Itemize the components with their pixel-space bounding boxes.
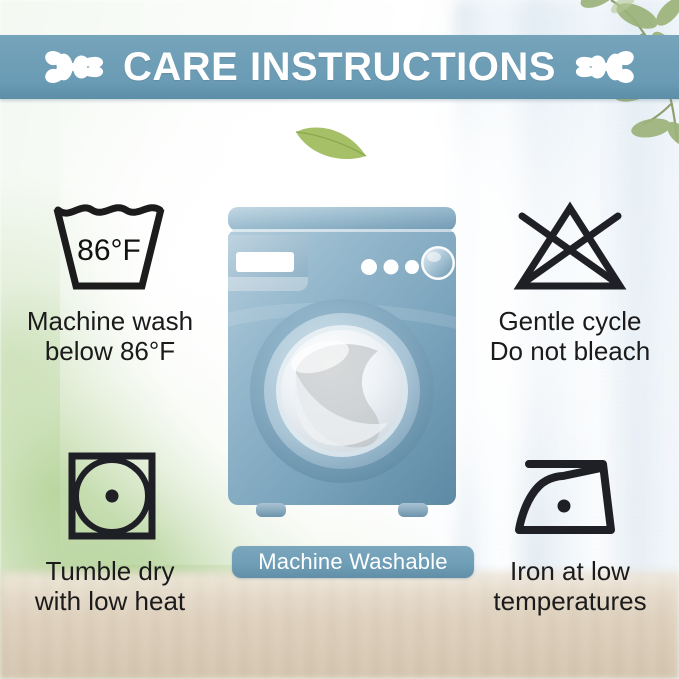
floating-leaf-icon (292, 118, 372, 166)
page-title: CARE INSTRUCTIONS (123, 45, 556, 90)
care-item-tumble-dry-low: Tumble dry with low heat (6, 446, 214, 616)
do-not-bleach-triangle-icon (466, 196, 674, 300)
tumble-dry-low-heat-icon (6, 446, 214, 550)
care-item-caption: Tumble dry with low heat (6, 556, 214, 616)
iron-low-temperature-icon (466, 446, 674, 550)
fleur-de-lis-icon (574, 45, 636, 89)
header-banner: CARE INSTRUCTIONS (0, 35, 679, 99)
status-badge-label: Machine Washable (258, 549, 447, 575)
care-item-iron-low-temp: Iron at low temperatures (466, 446, 674, 616)
care-item-caption: Iron at low temperatures (466, 556, 674, 616)
wash-tub-icon: 86°F (6, 196, 214, 300)
care-item-gentle-cycle-no-bleach: Gentle cycle Do not bleach (466, 196, 674, 366)
care-instructions-graphic: CARE INSTRUCTIONS 86°F Machine wash belo… (0, 0, 679, 679)
fleur-de-lis-icon (43, 45, 105, 89)
washing-machine-illustration (222, 205, 462, 535)
wash-temperature-value: 86°F (77, 234, 141, 267)
status-badge: Machine Washable (232, 546, 474, 578)
care-item-caption: Machine wash below 86°F (6, 306, 214, 366)
care-item-caption: Gentle cycle Do not bleach (466, 306, 674, 366)
care-item-machine-wash: 86°F Machine wash below 86°F (6, 196, 214, 366)
